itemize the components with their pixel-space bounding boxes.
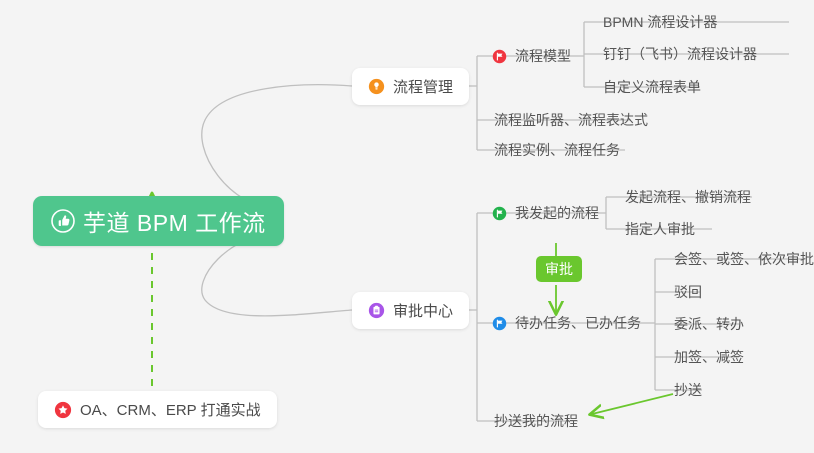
node-start-cancel-process[interactable]: 发起流程、撤销流程 <box>620 183 756 211</box>
node-label: BPMN 流程设计器 <box>603 12 717 32</box>
node-process-listener-expression[interactable]: 流程监听器、流程表达式 <box>489 106 653 134</box>
node-carbon-copy[interactable]: 抄送 <box>669 376 707 404</box>
node-label: 流程实例、流程任务 <box>494 140 620 160</box>
node-add-remove-sign[interactable]: 加签、减签 <box>669 343 749 371</box>
approval-tag-label: 审批 <box>545 259 573 279</box>
node-countersign-orsign-sequential[interactable]: 会签、或签、依次审批 <box>669 245 814 273</box>
node-label: 流程监听器、流程表达式 <box>494 110 648 130</box>
branch-label: 流程管理 <box>393 76 453 97</box>
branch-node-approval-center[interactable]: 审批中心 <box>352 292 469 329</box>
branch-label: 审批中心 <box>393 300 453 321</box>
node-label: 待办任务、已办任务 <box>515 313 641 333</box>
node-delegate-transfer[interactable]: 委派、转办 <box>669 310 749 338</box>
node-label: 会签、或签、依次审批 <box>674 249 814 269</box>
branch-node-process-management[interactable]: 流程管理 <box>352 68 469 105</box>
node-todo-done-tasks[interactable]: 待办任务、已办任务 <box>490 309 646 337</box>
mindmap-canvas: 芋道 BPM 工作流 流程管理 流程模型 BPMN 流程设计器 钉钉（飞书）流程… <box>0 0 814 453</box>
node-cc-to-me-processes[interactable]: 抄送我的流程 <box>489 407 583 435</box>
thumbs-up-icon <box>51 209 75 233</box>
node-process-instance-task[interactable]: 流程实例、流程任务 <box>489 136 625 164</box>
node-label: 委派、转办 <box>674 314 744 334</box>
node-label: 驳回 <box>674 282 702 302</box>
node-bpmn-designer[interactable]: BPMN 流程设计器 <box>598 8 722 36</box>
clipboard-icon <box>368 302 385 319</box>
approval-tag: 审批 <box>536 256 582 282</box>
node-process-model[interactable]: 流程模型 <box>490 42 576 70</box>
root-node[interactable]: 芋道 BPM 工作流 <box>33 196 284 246</box>
bottom-note-label: OA、CRM、ERP 打通实战 <box>80 399 261 420</box>
node-label: 指定人审批 <box>625 219 695 239</box>
node-label: 我发起的流程 <box>515 203 599 223</box>
flag-icon <box>492 49 507 64</box>
node-dingtalk-feishu-designer[interactable]: 钉钉（飞书）流程设计器 <box>598 40 762 68</box>
node-label: 加签、减签 <box>674 347 744 367</box>
root-label: 芋道 BPM 工作流 <box>83 204 266 238</box>
bottom-note-node[interactable]: OA、CRM、ERP 打通实战 <box>38 391 277 428</box>
node-custom-process-form[interactable]: 自定义流程表单 <box>598 73 706 101</box>
flag-icon <box>492 316 507 331</box>
copy-to-me-arrow <box>592 394 673 414</box>
node-label: 钉钉（飞书）流程设计器 <box>603 44 757 64</box>
location-pin-icon <box>368 78 385 95</box>
node-label: 自定义流程表单 <box>603 77 701 97</box>
node-reject[interactable]: 驳回 <box>669 278 707 306</box>
node-my-started-processes[interactable]: 我发起的流程 <box>490 199 604 227</box>
star-icon <box>54 401 72 419</box>
node-label: 抄送 <box>674 380 702 400</box>
node-assignee-approval[interactable]: 指定人审批 <box>620 215 700 243</box>
node-label: 发起流程、撤销流程 <box>625 187 751 207</box>
node-label: 流程模型 <box>515 46 571 66</box>
node-label: 抄送我的流程 <box>494 411 578 431</box>
flag-icon <box>492 206 507 221</box>
